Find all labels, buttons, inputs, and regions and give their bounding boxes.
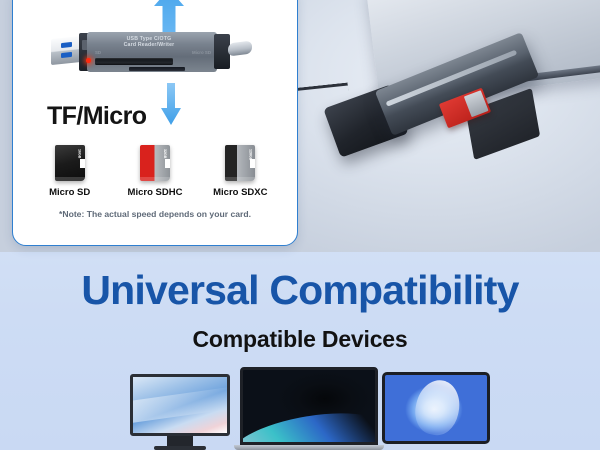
arrow-down-icon — [161, 83, 181, 125]
compatible-devices-row — [0, 360, 600, 450]
reader-title: USB Type C/OTG Card Reader/Writer — [87, 36, 211, 49]
card-name-label: Micro SDXC — [202, 187, 278, 198]
subheading-title: Compatible Devices — [0, 326, 600, 353]
laptop-screen — [240, 367, 378, 445]
sd-slot-label: SD — [95, 50, 101, 55]
info-panel: USB Type C/OTG Card Reader/Writer SD Mic… — [12, 0, 298, 246]
device-laptop — [240, 367, 378, 450]
card-name-label: Micro SDHC — [117, 187, 193, 198]
tf-micro-label: TF/Micro — [47, 102, 146, 131]
supported-cards-row: 16GB Micro SD 32GB Micro SDHC 128GB Micr… — [27, 145, 283, 198]
speed-disclaimer-note: *Note: The actual speed depends on your … — [13, 209, 297, 219]
tablet-screen — [382, 372, 490, 444]
reader-slot-labels: SD Micro SD — [95, 50, 211, 55]
arrow-up-icon — [154, 0, 184, 33]
monitor-base — [154, 446, 206, 450]
card-name-label: Micro SD — [32, 187, 108, 198]
laptop-base — [234, 445, 384, 450]
headline-title: Universal Compatibility — [0, 268, 600, 312]
microsdxc-card-icon: 128GB — [225, 145, 255, 181]
device-tablet — [382, 372, 490, 444]
card-item: 32GB Micro SDHC — [117, 145, 193, 198]
monitor-screen — [130, 374, 230, 436]
microsd-card-icon: 16GB — [55, 145, 85, 181]
device-desktop-monitor — [130, 374, 230, 450]
card-item: 16GB Micro SD — [32, 145, 108, 198]
reader-body: USB Type C/OTG Card Reader/Writer SD Mic… — [87, 32, 217, 72]
microsdhc-card-icon: 32GB — [140, 145, 170, 181]
usb-c-connector-icon — [228, 41, 252, 57]
monitor-stand — [167, 436, 193, 446]
card-reader-illustration: USB Type C/OTG Card Reader/Writer SD Mic… — [51, 32, 251, 72]
microsd-card-slot — [129, 67, 185, 71]
product-marketing-image: USB Type C/OTG Card Reader/Writer SD Mic… — [0, 0, 600, 450]
status-led-indicator — [86, 58, 91, 63]
microsd-slot-label: Micro SD — [192, 50, 211, 55]
sd-card-slot — [95, 58, 173, 65]
card-item: 128GB Micro SDXC — [202, 145, 278, 198]
